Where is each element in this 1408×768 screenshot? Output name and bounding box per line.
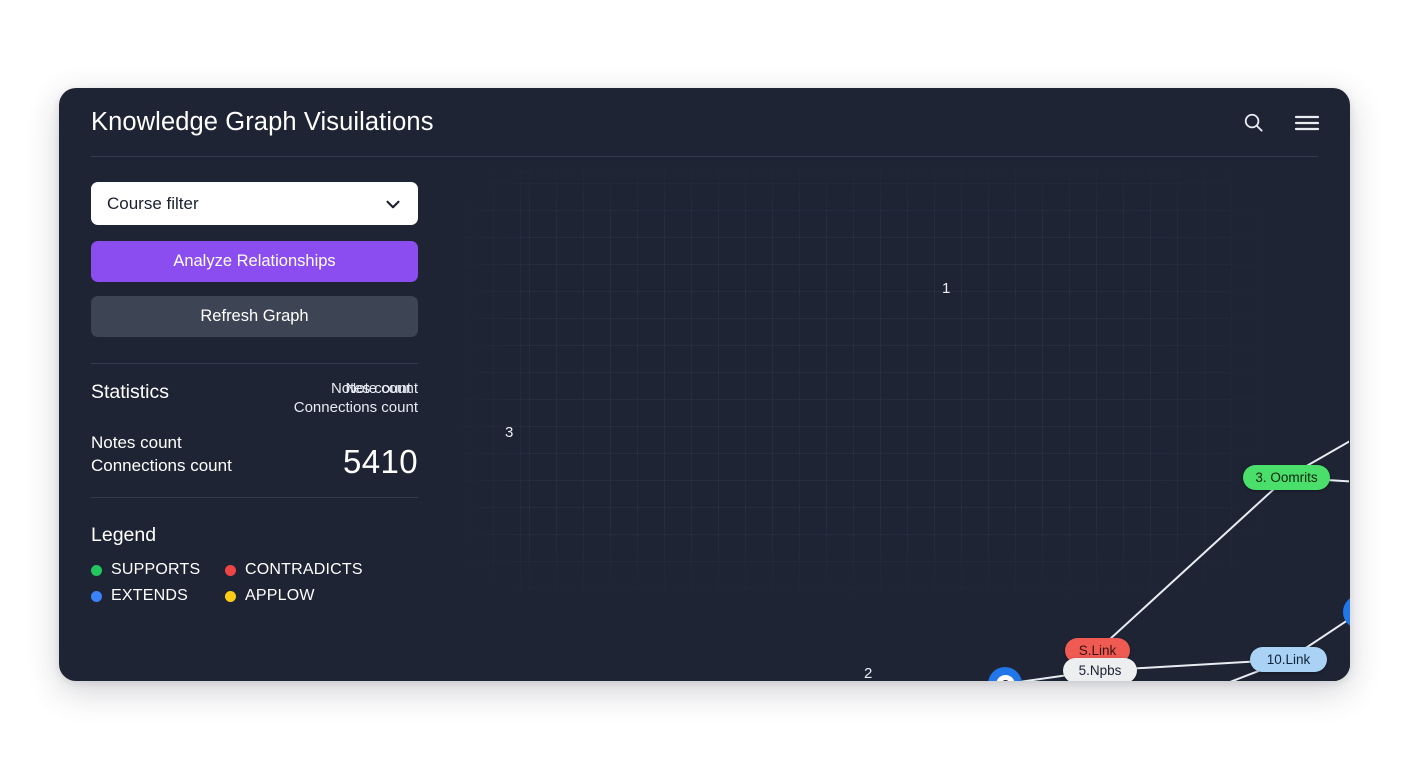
course-filter-value: Course filter [107,194,199,214]
hamburger-menu-icon[interactable] [1294,110,1320,136]
legend-dot-extends [91,591,102,602]
graph-axis-label-2: 2 [864,665,872,681]
body-split: Course filter Analyze Relationships Refr… [59,157,1350,681]
legend-item-extends[interactable]: EXTENDS [91,587,225,605]
statistics-labels: Notes count Connections count [91,431,232,477]
app-header: Knowledge Graph Visuilations [59,88,1350,157]
legend-label: SUPPORTS [111,561,200,579]
legend-label: APPLOW [245,587,315,605]
statistics-ghost-notes-count: Notes count [331,379,411,398]
header-actions [1240,110,1320,136]
graph-axis-label-1: 1 [942,280,950,297]
legend-dot-applow [225,591,236,602]
statistics-title: Statistics [91,381,169,404]
statistics-overlap-text: Note count Notes count Connections count [294,379,418,417]
statistics-ghost-connections-count: Connections count [294,398,418,417]
legend-label: CONTRADICTS [245,561,363,579]
page-title: Knowledge Graph Visuilations [91,108,434,137]
course-filter-dropdown[interactable]: Course filter [91,182,418,225]
legend-grid: SUPPORTSCONTRADICTSEXTENDSAPPLOW [91,561,418,605]
analyze-relationships-button[interactable]: Analyze Relationships [91,241,418,282]
refresh-graph-button[interactable]: Refresh Graph [91,296,418,337]
sidebar-divider-1 [91,363,418,364]
legend-dot-supports [91,565,102,576]
statistics-value: 5410 [343,443,418,481]
graph-node-n3[interactable]: 3. Oomrits [1243,465,1330,490]
graph-canvas[interactable]: Nink6. Notes3. Oomrits2. Oplmns7. LinkS.… [450,157,1350,681]
sidebar: Course filter Analyze Relationships Refr… [59,157,450,681]
graph-node-n5white[interactable]: 5.Npbs [1063,658,1137,681]
app-card: Knowledge Graph Visuilations Course filt… [59,88,1350,681]
legend-item-supports[interactable]: SUPPORTS [91,561,225,579]
legend-item-applow[interactable]: APPLOW [225,587,418,605]
search-icon[interactable] [1240,110,1266,136]
statistics-label-connections-count: Connections count [91,454,232,477]
graph-edge-n3-n5red [1098,478,1287,651]
chevron-down-icon [382,193,404,215]
statistics-label-notes-count: Notes count [91,431,232,454]
statistics-header: Statistics Note count Notes count Connec… [91,381,418,428]
graph-edges [450,157,1349,681]
graph-axis-label-3: 3 [505,424,513,441]
legend-dot-contradicts [225,565,236,576]
legend-item-contradicts[interactable]: CONTRADICTS [225,561,418,579]
statistics-rows: Notes count Connections count 5410 [91,431,418,477]
graph-node-n10[interactable]: 10.Link [1250,647,1327,672]
sidebar-divider-2 [91,497,418,498]
legend-title: Legend [91,524,418,547]
legend-label: EXTENDS [111,587,188,605]
